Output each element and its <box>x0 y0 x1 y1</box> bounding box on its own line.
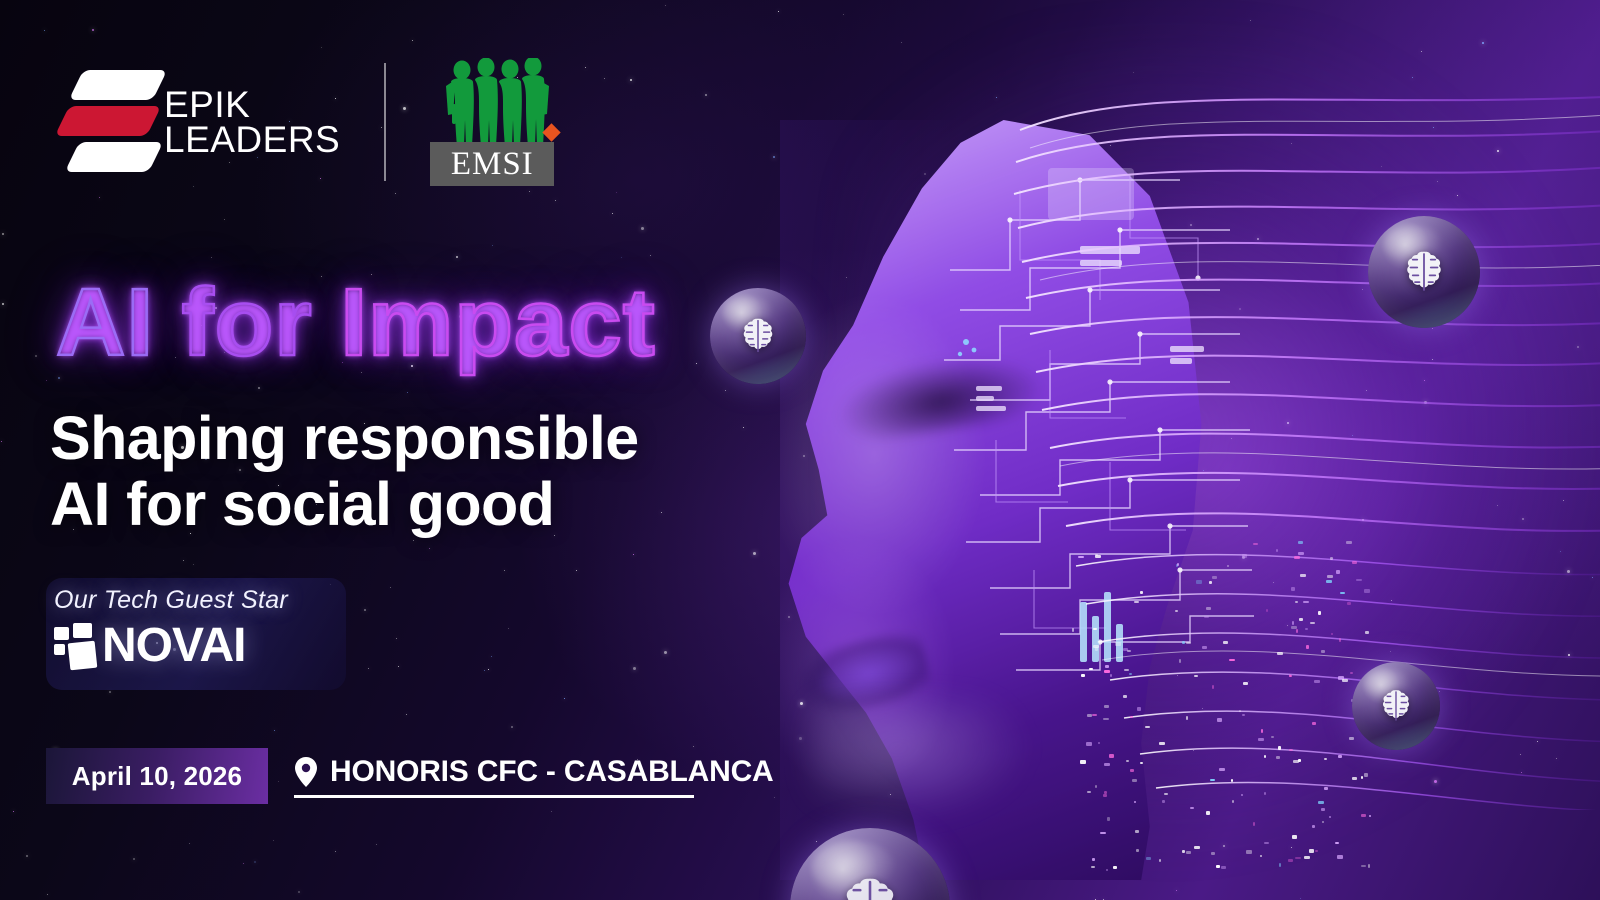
brain-icon <box>1375 685 1417 727</box>
emsi-wordmark: EMSI <box>451 148 534 181</box>
novai-wordmark: NOVAI <box>102 622 245 670</box>
neon-title-seg-3: Impact <box>340 269 655 376</box>
epik-line-2: LEADERS <box>164 122 340 157</box>
emsi-people-silhouette-icon <box>438 58 554 150</box>
ai-chin-highlight <box>810 700 1030 820</box>
vertical-divider-icon <box>384 63 386 181</box>
neon-title-seg-1: AI <box>56 269 182 376</box>
novai-squares-icon <box>54 623 98 669</box>
novai-logo[interactable]: NOVAI <box>54 622 245 670</box>
epik-line-1: EPIK <box>164 87 340 122</box>
map-pin-icon <box>294 757 318 787</box>
location-block: HONORIS CFC - CASABLANCA <box>294 748 774 804</box>
epik-leaders-logo[interactable]: EPIK LEADERS <box>62 66 340 178</box>
event-banner: EPIK LEADERS <box>0 0 1600 900</box>
brain-icon <box>735 313 781 359</box>
date-location-bar: April 10, 2026 HONORIS CFC - CASABLANCA <box>46 748 774 804</box>
headline-line-1: Shaping responsible <box>50 406 750 472</box>
event-location: HONORIS CFC - CASABLANCA <box>330 755 774 789</box>
brain-icon <box>1397 245 1451 299</box>
brain-icon <box>831 869 909 900</box>
neon-title: AI for Impact <box>56 268 656 378</box>
brain-badge-middle[interactable] <box>710 288 806 384</box>
brain-badge-lower-right[interactable] <box>1352 662 1440 750</box>
headline-line-2: AI for social good <box>50 472 750 538</box>
data-dot-cluster <box>1070 540 1370 870</box>
header-logos: EPIK LEADERS <box>62 58 562 186</box>
date-chip: April 10, 2026 <box>46 748 268 804</box>
epik-e-mark-icon <box>62 66 146 178</box>
epik-wordmark: EPIK LEADERS <box>164 87 340 157</box>
brain-badge-top-right[interactable] <box>1368 216 1480 328</box>
neon-title-seg-2: for <box>182 269 341 376</box>
emsi-logo[interactable]: EMSI <box>430 58 562 186</box>
headline: Shaping responsible AI for social good <box>50 406 750 538</box>
emsi-wordmark-box: EMSI <box>430 142 554 186</box>
event-date: April 10, 2026 <box>72 761 242 792</box>
ai-face-artwork <box>740 0 1600 900</box>
guest-star-label: Our Tech Guest Star <box>54 586 288 615</box>
guest-star-panel: Our Tech Guest Star NOVAI <box>46 578 346 690</box>
location-underline <box>294 795 694 798</box>
